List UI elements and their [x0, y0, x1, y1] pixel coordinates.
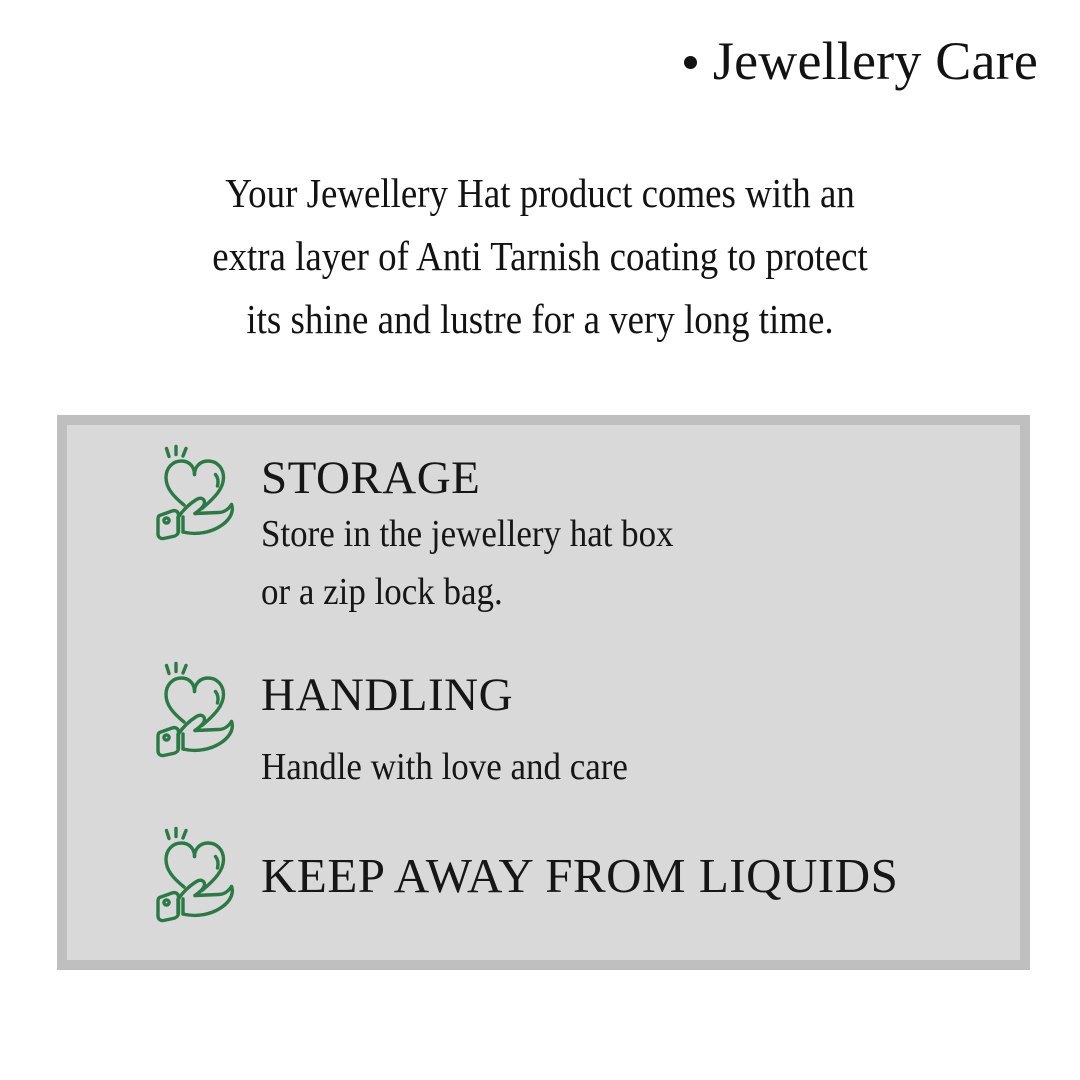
hand-holding-heart-icon — [145, 660, 245, 760]
hand-holding-heart-icon — [145, 443, 245, 543]
care-instructions-card: STORAGE Store in the jewellery hat box o… — [57, 415, 1030, 970]
page-title-text: Jewellery Care — [684, 28, 1038, 94]
care-item-heading: HANDLING — [261, 668, 660, 722]
page-title-label: Jewellery Care — [713, 31, 1038, 91]
care-item-storage: STORAGE Store in the jewellery hat box o… — [145, 443, 710, 621]
bullet-icon — [684, 56, 697, 69]
care-item-keep-away-from-liquids: KEEP AWAY FROM LIQUIDS — [145, 825, 898, 925]
care-item-line-1: Handle with love and care — [261, 738, 628, 796]
care-item-line-2: or a zip lock bag. — [261, 563, 674, 621]
care-item-handling: HANDLING Handle with love and care — [145, 660, 660, 796]
care-item-text: STORAGE Store in the jewellery hat box o… — [261, 443, 710, 621]
intro-line-1: Your Jewellery Hat product comes with an — [54, 162, 1026, 225]
intro-paragraph: Your Jewellery Hat product comes with an… — [0, 162, 1080, 351]
intro-line-2: extra layer of Anti Tarnish coating to p… — [54, 225, 1026, 288]
care-item-text: KEEP AWAY FROM LIQUIDS — [261, 825, 898, 903]
care-item-heading: KEEP AWAY FROM LIQUIDS — [261, 849, 898, 903]
intro-line-3: its shine and lustre for a very long tim… — [54, 288, 1026, 351]
page-title: Jewellery Care — [0, 28, 1080, 94]
care-item-heading: STORAGE — [261, 452, 480, 504]
care-item-line-1: Store in the jewellery hat box — [261, 505, 674, 563]
care-item-text: HANDLING Handle with love and care — [261, 660, 660, 796]
hand-holding-heart-icon — [145, 825, 245, 925]
jewellery-care-page: Jewellery Care Your Jewellery Hat produc… — [0, 0, 1080, 1080]
